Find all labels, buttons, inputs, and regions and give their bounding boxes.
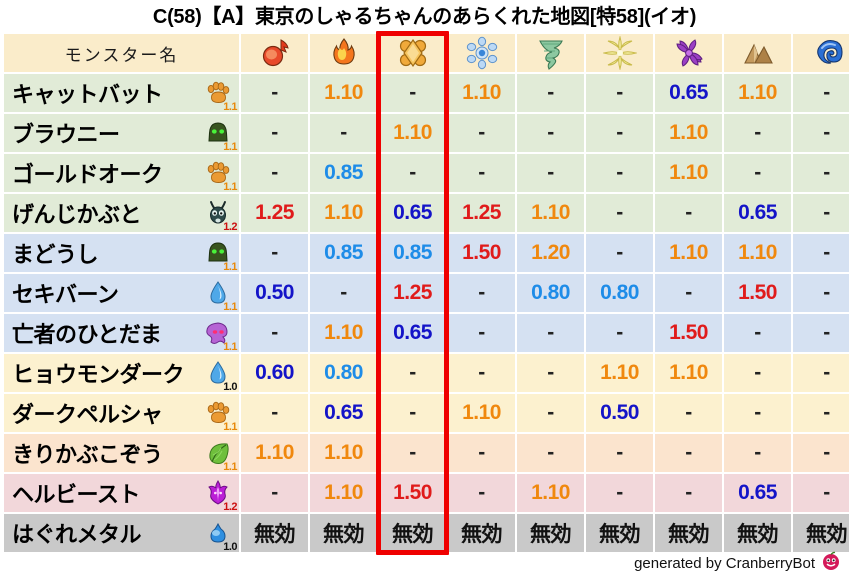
resistance-cell: - [793,354,849,392]
monster-name-inner: ヘルビースト1.2 [12,474,235,512]
resistance-cell: - [586,114,653,152]
monster-name-inner: ダークペルシャ1.1 [12,394,235,432]
monster-name-cell[interactable]: 亡者のひとだま1.1 [4,314,239,352]
resistance-cell: - [793,74,849,112]
resistance-cell: - [724,434,791,472]
monster-name-cell[interactable]: ゴールドオーク1.1 [4,154,239,192]
resistance-cell: - [793,394,849,432]
resistance-cell: - [241,394,308,432]
element-header-light-burst[interactable] [586,34,653,72]
resistance-cell: 0.85 [310,154,377,192]
resistance-cell: 無効 [793,514,849,552]
monster-name-label: ゴールドオーク [12,157,163,189]
resistance-cell: 0.65 [724,474,791,512]
resistance-cell: - [655,394,722,432]
resistance-cell: 1.10 [655,354,722,392]
resistance-cell: - [517,394,584,432]
resistance-cell: 1.10 [655,154,722,192]
resistance-cell: - [448,354,515,392]
resistance-cell: 1.10 [724,234,791,272]
monster-multiplier: 1.1 [223,262,237,273]
resistance-cell: - [586,314,653,352]
resistance-cell: 無効 [241,514,308,552]
resistance-cell: 0.65 [379,314,446,352]
resistance-cell: - [586,154,653,192]
resistance-cell: - [655,274,722,312]
resistance-cell: - [379,354,446,392]
resistance-cell: - [586,74,653,112]
resistance-cell: - [586,474,653,512]
table-row: げんじかぶと1.21.251.100.651.251.10--0.65- [4,194,849,232]
element-header-dark-pinwheel[interactable] [655,34,722,72]
resistance-cell: 無効 [517,514,584,552]
monster-name-label: きりかぶこぞう [12,437,163,469]
monster-name-label: ヘルビースト [12,477,140,509]
resistance-cell: - [793,194,849,232]
monster-name-label: ダークペルシャ [12,397,163,429]
resistance-cell: - [586,194,653,232]
monster-multiplier: 1.2 [223,502,237,513]
monster-name-inner: セキバーン1.1 [12,274,235,312]
monster-name-label: ブラウニー [12,117,120,149]
monster-multiplier: 1.0 [223,382,237,393]
resistance-cell: 1.10 [448,74,515,112]
resistance-table: モンスター名 キャットバット1.1-1.10-1.10--0.651.10-ブラ… [2,32,849,554]
table-row: ヘルビースト1.2-1.101.50-1.10--0.65- [4,474,849,512]
resistance-cell: - [724,314,791,352]
resistance-cell: - [379,434,446,472]
resistance-cell: - [655,194,722,232]
resistance-cell: - [448,314,515,352]
element-header-meteor-fire[interactable] [241,34,308,72]
resistance-cell: 1.25 [379,274,446,312]
monster-name-inner: キャットバット1.1 [12,74,235,112]
resistance-cell: - [517,74,584,112]
resistance-cell: 1.10 [724,74,791,112]
resistance-cell: 0.80 [310,354,377,392]
resistance-cell: - [241,314,308,352]
resistance-cell: 無効 [655,514,722,552]
water-drop-icon: 1.0 [201,356,235,390]
resistance-cell: - [448,154,515,192]
footer: generated by CranberryBot [634,551,841,575]
table-row: ヒョウモンダーク1.00.600.80---1.101.10-- [4,354,849,392]
resistance-cell: 0.65 [310,394,377,432]
resistance-cell: - [448,274,515,312]
monster-name-cell[interactable]: ヒョウモンダーク1.0 [4,354,239,392]
resistance-cell: - [586,434,653,472]
table-row: きりかぶこぞう1.11.101.10------- [4,434,849,472]
element-header-mountain[interactable] [724,34,791,72]
monster-name-label: げんじかぶと [12,197,141,229]
resistance-cell: - [724,114,791,152]
hood-icon: 1.1 [201,116,235,150]
resistance-cell: - [724,154,791,192]
water-wave-icon [793,34,849,72]
table-row: はぐれメタル1.0無効無効無効無効無効無効無効無効無効 [4,514,849,552]
leaf-icon: 1.1 [201,436,235,470]
resistance-cell: - [793,434,849,472]
element-header-explosion[interactable] [379,34,446,72]
header-row: モンスター名 [4,34,849,72]
water-drop-icon: 1.1 [201,276,235,310]
resistance-cell: - [241,114,308,152]
resistance-cell: 1.10 [586,354,653,392]
monster-name-inner: まどうし1.1 [12,234,235,272]
monster-multiplier: 1.1 [223,342,237,353]
resistance-cell: - [724,354,791,392]
resistance-cell: - [793,274,849,312]
resistance-cell: 1.10 [241,434,308,472]
blue-slime-icon: 1.0 [201,516,235,550]
resistance-cell: 1.10 [310,74,377,112]
monster-multiplier: 1.1 [223,302,237,313]
table-row: まどうし1.1-0.850.851.501.20-1.101.10- [4,234,849,272]
monster-name-cell[interactable]: はぐれメタル1.0 [4,514,239,552]
resistance-cell: 1.10 [655,114,722,152]
resistance-cell: 無効 [310,514,377,552]
resistance-cell: - [448,114,515,152]
table-body: キャットバット1.1-1.10-1.10--0.651.10-ブラウニー1.1-… [4,74,849,552]
resistance-cell: - [241,154,308,192]
resistance-cell: - [379,154,446,192]
resistance-cell: - [517,314,584,352]
monster-name-label: ヒョウモンダーク [12,357,184,389]
resistance-cell: - [793,234,849,272]
dark-pinwheel-icon [655,34,722,72]
monster-multiplier: 1.2 [223,222,237,233]
resistance-cell: 0.65 [379,194,446,232]
mountain-icon [724,34,791,72]
meteor-fire-icon [241,34,308,72]
resistance-cell: 1.10 [379,114,446,152]
resistance-cell: - [379,74,446,112]
resistance-cell: 0.80 [586,274,653,312]
explosion-icon [379,34,446,72]
flame-icon [310,34,377,72]
monster-name-cell[interactable]: ブラウニー1.1 [4,114,239,152]
monster-name-label: 亡者のひとだま [12,317,161,349]
tornado-icon [517,34,584,72]
resistance-cell: 無効 [724,514,791,552]
resistance-cell: - [517,434,584,472]
monster-name-inner: 亡者のひとだま1.1 [12,314,235,352]
monster-multiplier: 1.1 [223,182,237,193]
resistance-cell: 0.80 [517,274,584,312]
bug-icon: 1.2 [201,196,235,230]
table-row: ダークペルシャ1.1-0.65-1.10-0.50--- [4,394,849,432]
resistance-cell: - [241,474,308,512]
resistance-cell: 0.50 [586,394,653,432]
demon-icon: 1.2 [201,476,235,510]
hood-icon: 1.1 [201,236,235,270]
resistance-cell: - [241,234,308,272]
ghost-icon: 1.1 [201,316,235,350]
table-row: セキバーン1.10.50-1.25-0.800.80-1.50- [4,274,849,312]
element-header-snowflake[interactable] [448,34,515,72]
monster-name-inner: ブラウニー1.1 [12,114,235,152]
table-row: 亡者のひとだま1.1-1.100.65---1.50-- [4,314,849,352]
resistance-cell: - [517,114,584,152]
resistance-cell: 1.10 [655,234,722,272]
resistance-cell: 1.25 [448,194,515,232]
resistance-cell: 0.65 [655,74,722,112]
monster-multiplier: 1.1 [223,422,237,433]
resistance-cell: - [379,394,446,432]
resistance-cell: - [724,394,791,432]
monster-multiplier: 1.1 [223,102,237,113]
resistance-cell: - [448,474,515,512]
monster-name-inner: はぐれメタル1.0 [12,514,235,552]
resistance-cell: 無効 [448,514,515,552]
table-header: モンスター名 [4,34,849,72]
monster-multiplier: 1.1 [223,142,237,153]
monster-name-cell[interactable]: げんじかぶと1.2 [4,194,239,232]
monster-name-inner: ヒョウモンダーク1.0 [12,354,235,392]
monster-name-cell[interactable]: キャットバット1.1 [4,74,239,112]
table-row: ゴールドオーク1.1-0.85----1.10-- [4,154,849,192]
resistance-cell: - [241,74,308,112]
resistance-cell: - [517,154,584,192]
resistance-cell: - [793,114,849,152]
resistance-cell: - [793,314,849,352]
monster-name-inner: げんじかぶと1.2 [12,194,235,232]
resistance-cell: 1.10 [310,474,377,512]
table-row: ブラウニー1.1--1.10---1.10-- [4,114,849,152]
resistance-cell: 1.10 [310,194,377,232]
monster-multiplier: 1.0 [223,542,237,553]
resistance-cell: 1.50 [379,474,446,512]
footer-credit-text: generated by CranberryBot [634,555,815,572]
resistance-cell: - [310,114,377,152]
resistance-cell: - [655,474,722,512]
monster-name-inner: ゴールドオーク1.1 [12,154,235,192]
monster-name-label: セキバーン [12,277,118,309]
resistance-cell: 無効 [586,514,653,552]
paw-icon: 1.1 [201,396,235,430]
monster-name-header: モンスター名 [4,34,239,72]
resistance-cell: 0.60 [241,354,308,392]
resistance-cell: 1.25 [241,194,308,232]
monster-name-inner: きりかぶこぞう1.1 [12,434,235,472]
resistance-cell: - [310,274,377,312]
light-burst-icon [586,34,653,72]
table-row: キャットバット1.1-1.10-1.10--0.651.10- [4,74,849,112]
resistance-cell: - [517,354,584,392]
snowflake-icon [448,34,515,72]
element-header-flame[interactable] [310,34,377,72]
element-header-water-wave[interactable] [793,34,849,72]
resistance-cell: 1.10 [517,474,584,512]
resistance-cell: 1.20 [517,234,584,272]
element-header-tornado[interactable] [517,34,584,72]
paw-icon: 1.1 [201,76,235,110]
monster-name-label: はぐれメタル [12,517,141,549]
monster-name-label: キャットバット [12,77,163,109]
monster-name-cell[interactable]: まどうし1.1 [4,234,239,272]
resistance-cell: 0.50 [241,274,308,312]
monster-name-cell[interactable]: きりかぶこぞう1.1 [4,434,239,472]
resistance-cell: - [793,474,849,512]
resistance-cell: 無効 [379,514,446,552]
monster-name-cell[interactable]: ヘルビースト1.2 [4,474,239,512]
resistance-cell: 0.65 [724,194,791,232]
resistance-cell: 1.10 [310,314,377,352]
resistance-cell: - [655,434,722,472]
cranberry-icon [821,551,841,575]
resistance-cell: 1.10 [448,394,515,432]
resistance-cell: - [448,434,515,472]
page-root: C(58)【A】東京のしゃるちゃんのあらくれた地図[特58](イオ) モンスター… [0,0,849,583]
monster-name-cell[interactable]: ダークペルシャ1.1 [4,394,239,432]
resistance-cell: 0.85 [379,234,446,272]
paw-icon: 1.1 [201,156,235,190]
resistance-cell: 1.10 [517,194,584,232]
monster-name-cell[interactable]: セキバーン1.1 [4,274,239,312]
resistance-cell: 1.50 [724,274,791,312]
resistance-cell: 1.10 [310,434,377,472]
monster-multiplier: 1.1 [223,462,237,473]
resistance-cell: 1.50 [655,314,722,352]
resistance-cell: - [793,154,849,192]
page-title: C(58)【A】東京のしゃるちゃんのあらくれた地図[特58](イオ) [0,0,849,32]
resistance-cell: 1.50 [448,234,515,272]
resistance-cell: 0.85 [310,234,377,272]
monster-name-label: まどうし [12,237,98,269]
resistance-cell: - [586,234,653,272]
